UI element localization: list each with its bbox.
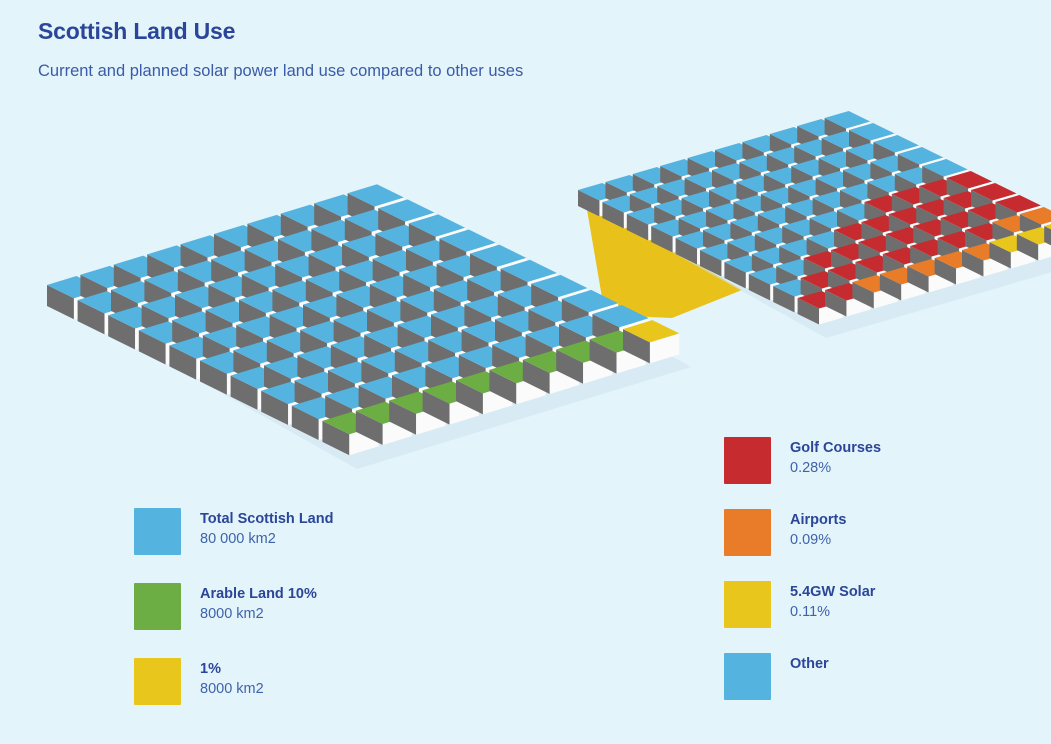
legend-item-value: 0.28% xyxy=(790,459,881,479)
legend-swatch-golf-courses xyxy=(724,437,771,484)
legend-right: Golf Courses0.28%Airports0.09%5.4GW Sola… xyxy=(724,437,881,725)
legend-item-label: Other xyxy=(790,655,829,673)
legend-item-label: 5.4GW Solar xyxy=(790,583,875,601)
infographic-canvas: Scottish Land Use Current and planned so… xyxy=(0,0,1051,744)
legend-item-value: 0.11% xyxy=(790,603,875,623)
legend-text: 5.4GW Solar0.11% xyxy=(790,581,875,623)
legend-item-value: 8000 km2 xyxy=(200,680,264,700)
legend-swatch-total-scottish-land xyxy=(134,508,181,555)
legend-text: Other xyxy=(790,653,829,673)
legend-item-value: 8000 km2 xyxy=(200,605,317,625)
legend-text: Airports0.09% xyxy=(790,509,846,551)
legend-left: Total Scottish Land80 000 km2Arable Land… xyxy=(134,508,333,733)
legend-item-label: Arable Land 10% xyxy=(200,585,317,603)
legend-item[interactable]: Airports0.09% xyxy=(724,509,881,556)
legend-item-value: 0.09% xyxy=(790,531,846,551)
legend-item[interactable]: Total Scottish Land80 000 km2 xyxy=(134,508,333,555)
legend-item-label: Golf Courses xyxy=(790,439,881,457)
legend-swatch-other xyxy=(724,653,771,700)
legend-item[interactable]: Golf Courses0.28% xyxy=(724,437,881,484)
legend-swatch-one-percent xyxy=(134,658,181,705)
legend-swatch-solar xyxy=(724,581,771,628)
legend-item-label: Airports xyxy=(790,511,846,529)
legend-text: Golf Courses0.28% xyxy=(790,437,881,479)
legend-item[interactable]: 1%8000 km2 xyxy=(134,658,333,705)
legend-item-label: 1% xyxy=(200,660,264,678)
legend-item[interactable]: Arable Land 10%8000 km2 xyxy=(134,583,333,630)
legend-item-value: 80 000 km2 xyxy=(200,530,333,550)
legend-item-label: Total Scottish Land xyxy=(200,510,333,528)
legend-item[interactable]: Other xyxy=(724,653,881,700)
legend-text: Total Scottish Land80 000 km2 xyxy=(200,508,333,550)
legend-text: Arable Land 10%8000 km2 xyxy=(200,583,317,625)
legend-swatch-arable-land xyxy=(134,583,181,630)
legend-item[interactable]: 5.4GW Solar0.11% xyxy=(724,581,881,628)
legend-swatch-airports xyxy=(724,509,771,556)
magnified-detail-grid-tiles xyxy=(578,111,1051,338)
legend-text: 1%8000 km2 xyxy=(200,658,264,700)
